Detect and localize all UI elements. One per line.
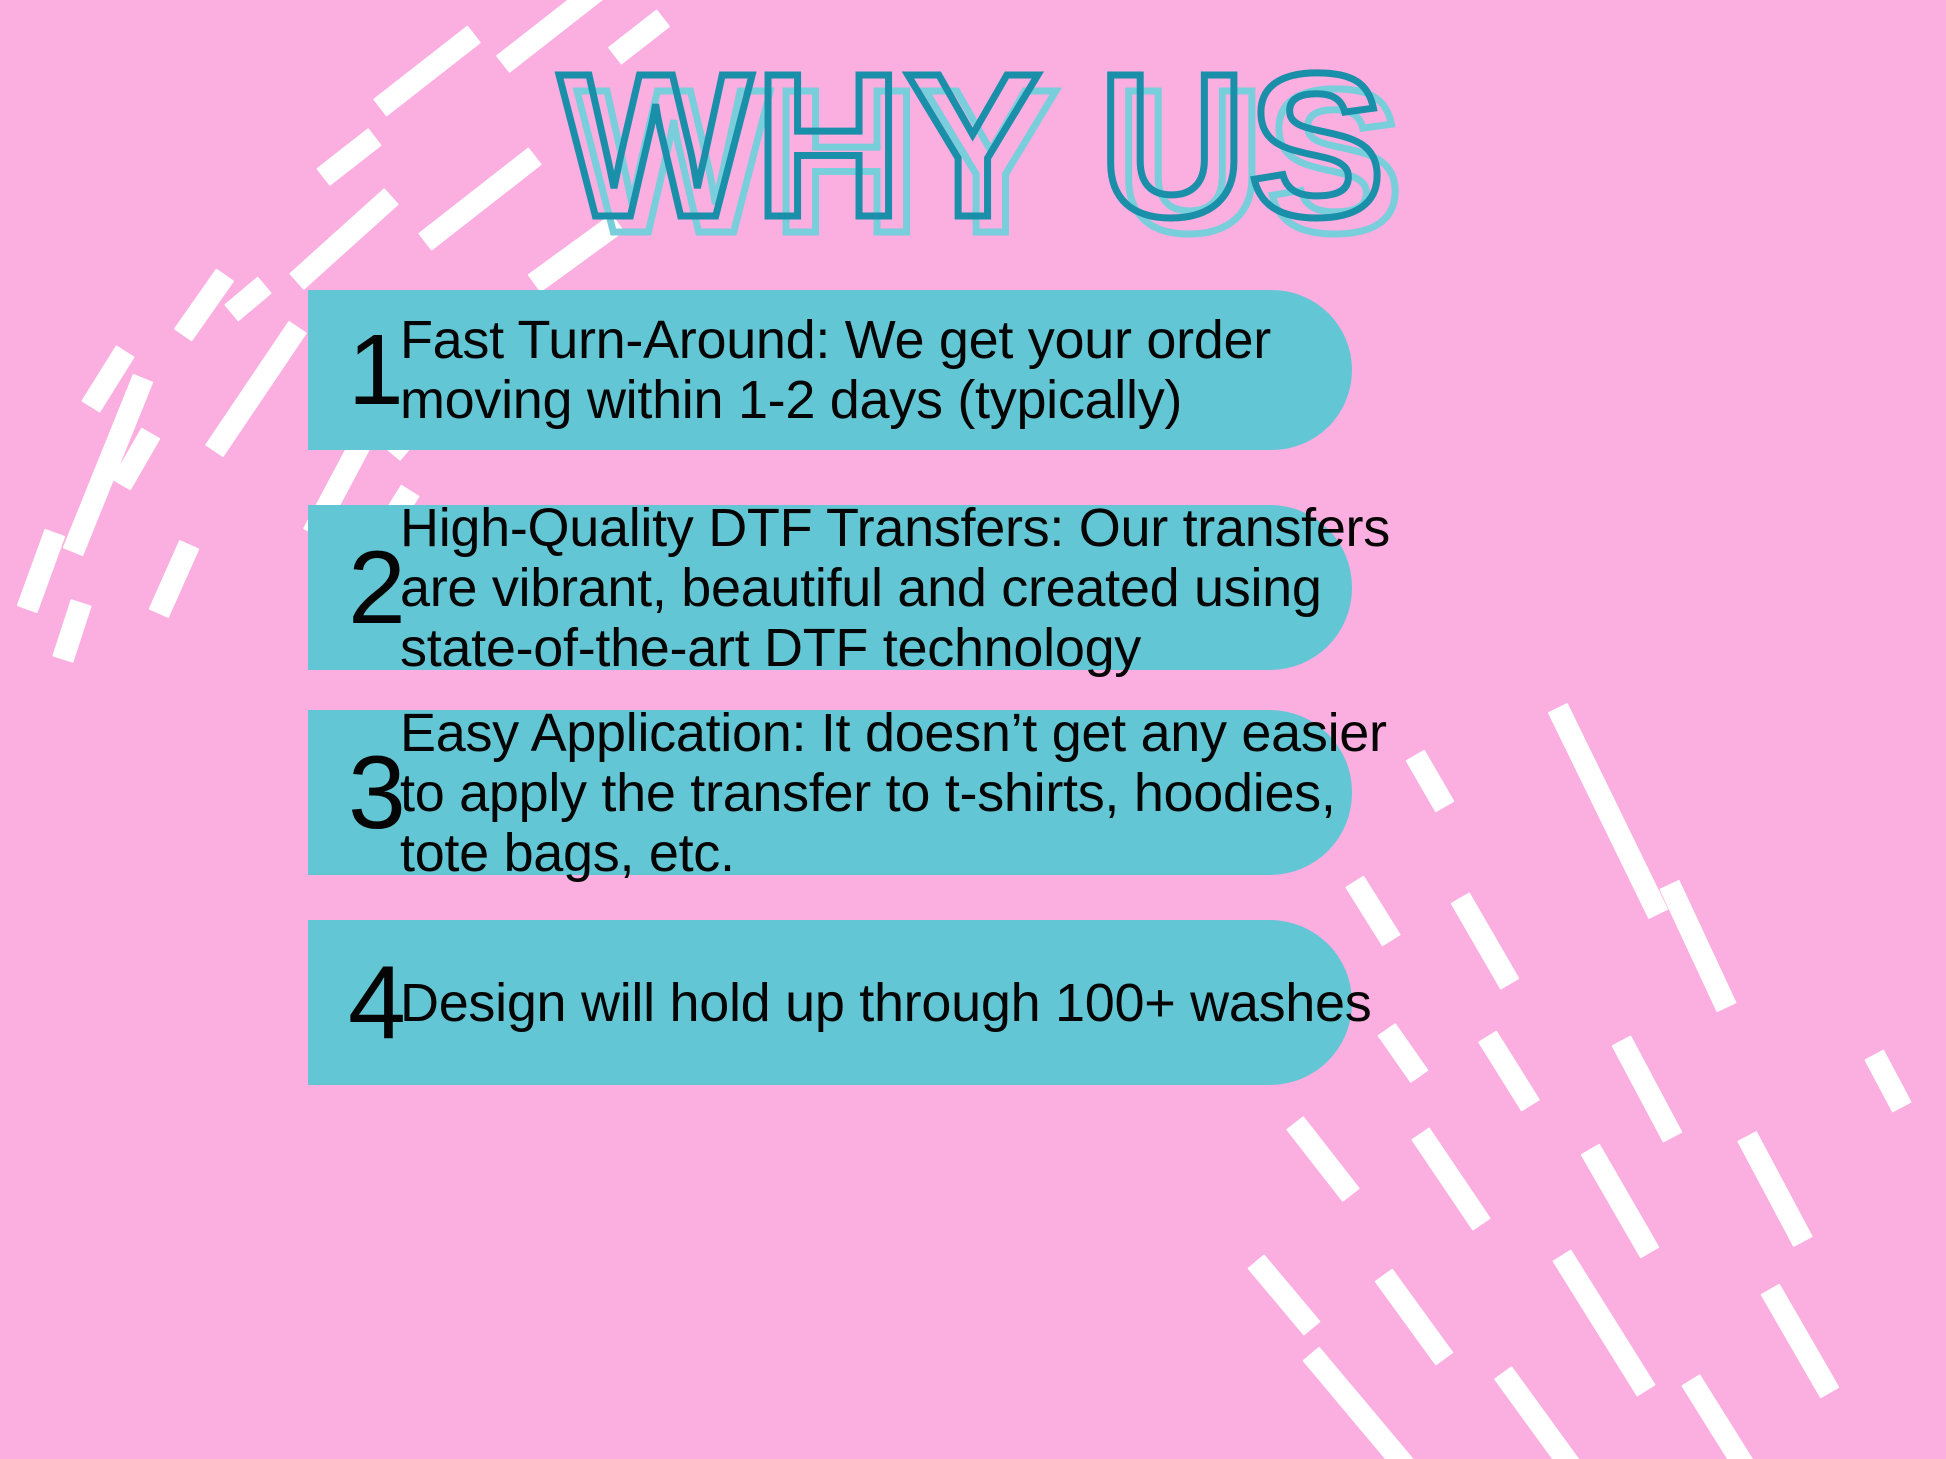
poster-canvas: WHY US WHY US 1 Fast Turn-Around: We get… <box>0 0 1946 1459</box>
decorative-dash <box>111 428 160 491</box>
decorative-dash <box>17 529 66 614</box>
decorative-dash <box>174 268 234 341</box>
decorative-dash <box>148 540 199 618</box>
decorative-dash <box>1864 1049 1912 1112</box>
decorative-dash <box>52 599 91 663</box>
decorative-dash <box>1375 1268 1454 1365</box>
benefit-text-line: moving within 1-2 days (typically) <box>400 370 1322 430</box>
benefit-card-3: 3 Easy Application: It doesn’t get any e… <box>308 710 1352 875</box>
decorative-dash <box>1659 880 1736 1013</box>
decorative-dash <box>224 276 272 321</box>
decorative-dash <box>1302 1346 1415 1459</box>
decorative-dash <box>1548 703 1669 919</box>
decorative-dash <box>1494 1366 1582 1459</box>
decorative-dash <box>205 321 307 458</box>
benefit-text-1: Fast Turn-Around: We get your ordermovin… <box>400 310 1352 430</box>
benefit-card-2: 2 High-Quality DTF Transfers: Our transf… <box>308 505 1352 670</box>
decorative-dash <box>81 345 135 413</box>
benefit-card-4: 4 Design will hold up through 100+ washe… <box>308 920 1352 1085</box>
decorative-dash <box>1411 1127 1491 1230</box>
page-title-main-layer: WHY US <box>0 46 1946 246</box>
decorative-dash <box>63 374 154 557</box>
decorative-dash <box>1580 1144 1659 1259</box>
benefit-text-line: tote bags, etc. <box>400 823 1387 883</box>
decorative-dash <box>1552 1249 1655 1396</box>
benefit-text-3: Easy Application: It doesn’t get any eas… <box>400 703 1417 883</box>
decorative-dash <box>1737 1131 1813 1247</box>
benefit-text-4: Design will hold up through 100+ washes <box>400 973 1401 1033</box>
benefit-text-line: Easy Application: It doesn’t get any eas… <box>400 703 1387 763</box>
benefit-text-line: state-of-the-art DTF technology <box>400 618 1390 678</box>
benefit-number-2: 2 <box>308 536 400 640</box>
page-title: WHY US WHY US <box>0 46 1946 246</box>
benefit-card-1: 1 Fast Turn-Around: We get your ordermov… <box>308 290 1352 450</box>
benefit-number-1: 1 <box>308 320 400 420</box>
decorative-dash <box>1478 1030 1540 1111</box>
benefit-text-line: Design will hold up through 100+ washes <box>400 973 1371 1033</box>
decorative-dash <box>1760 1284 1839 1399</box>
benefit-number-3: 3 <box>308 741 400 845</box>
decorative-dash <box>1247 1254 1320 1336</box>
benefit-text-line: to apply the transfer to t-shirts, hoodi… <box>400 763 1387 823</box>
benefit-text-line: are vibrant, beautiful and created using <box>400 558 1390 618</box>
decorative-dash <box>1450 892 1519 990</box>
decorative-dash <box>1345 875 1401 946</box>
decorative-dash <box>1286 1116 1360 1202</box>
decorative-dash <box>1681 1374 1769 1459</box>
decorative-dash <box>1611 1035 1682 1142</box>
benefit-text-2: High-Quality DTF Transfers: Our transfer… <box>400 498 1420 678</box>
benefit-text-line: Fast Turn-Around: We get your order <box>400 310 1322 370</box>
benefit-number-4: 4 <box>308 951 400 1055</box>
benefit-text-line: High-Quality DTF Transfers: Our transfer… <box>400 498 1390 558</box>
